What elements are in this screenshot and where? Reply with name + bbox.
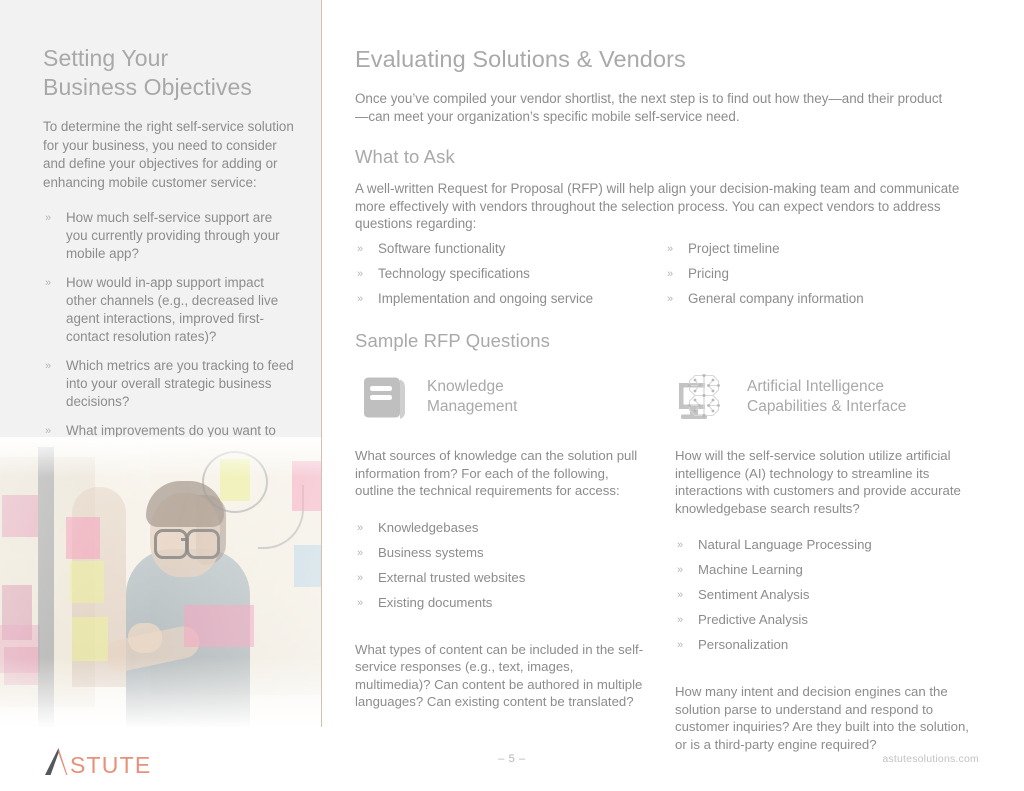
bullet-glyph-icon: » [357,569,363,587]
spacer [355,619,651,641]
sidebar-objectives-list: » How much self-service support are you … [43,209,295,476]
bullet-glyph-icon: » [677,636,683,654]
list-item-label: Predictive Analysis [698,612,808,627]
list-item: » How much self-service support are you … [43,209,295,263]
sidebar-photo [0,437,321,727]
sidebar-content: Setting Your Business Objectives To dete… [43,44,295,487]
sample-rfp-section: Sample RFP Questions [355,329,975,353]
list-item: » Technology specifications [355,265,665,283]
card-header: Knowledge Management [355,366,651,428]
sidebar-intro-paragraph: To determine the right self-service solu… [43,118,295,192]
list-item-label: Natural Language Processing [698,537,872,552]
what-to-ask-right-column: » Project timeline » Pricing » General c… [665,240,975,315]
ai-monitor-brain-icon [675,368,733,426]
bullet-glyph-icon: » [677,536,683,554]
card-paragraph-2: What types of content can be included in… [355,641,651,711]
list-item-label: Which metrics are you tracking to feed i… [66,358,294,409]
list-item: » Machine Learning [675,561,971,579]
bullet-glyph-icon: » [667,265,673,283]
card-artificial-intelligence: Artificial Intelligence Capabilities & I… [675,366,971,753]
card-title: Artificial Intelligence Capabilities & I… [733,377,906,417]
bullet-glyph-icon: » [357,265,363,283]
bullet-glyph-icon: » [667,290,673,308]
list-item-label: Personalization [698,637,788,652]
card-body: How will the self-service solution utili… [675,447,971,753]
list-item-label: Sentiment Analysis [698,587,809,602]
section-heading-sample-rfp: Sample RFP Questions [355,329,975,353]
page-title: Evaluating Solutions & Vendors [355,44,975,74]
bullet-glyph-icon: » [45,209,51,227]
list-item-label: Pricing [688,266,729,281]
bullet-glyph-icon: » [677,561,683,579]
list-item-label: Machine Learning [698,562,803,577]
book-icon [355,368,413,426]
card-paragraph-1: What sources of knowledge can the soluti… [355,447,651,500]
list-item-label: How much self-service support are you cu… [66,210,280,261]
sidebar-heading-line2: Business Objectives [43,74,252,100]
list-item-label: How would in-app support impact other ch… [66,275,278,344]
photo-fade-top [0,437,321,477]
list-item: » General company information [665,290,975,308]
page-number: – 5 – [0,753,1024,765]
list-item: » Predictive Analysis [675,611,971,629]
list-item: » How would in-app support impact other … [43,274,295,346]
what-to-ask-list-left: » Software functionality » Technology sp… [355,240,665,308]
bullet-glyph-icon: » [357,240,363,258]
list-item: » Pricing [665,265,975,283]
list-item-label: Business systems [378,545,484,560]
list-item: » Project timeline [665,240,975,258]
what-to-ask-paragraph: A well-written Request for Proposal (RFP… [355,180,975,233]
card-body: What sources of knowledge can the soluti… [355,447,651,711]
what-to-ask-left-column: » Software functionality » Technology sp… [355,240,665,315]
list-item: » Personalization [675,636,971,654]
list-item-label: External trusted websites [378,570,525,585]
list-item-label: Project timeline [688,241,780,256]
list-item-label: Existing documents [378,595,492,610]
list-item: » Which metrics are you tracking to feed… [43,357,295,411]
bullet-glyph-icon: » [677,611,683,629]
card-title-line2: Capabilities & Interface [747,398,906,415]
list-item: » Sentiment Analysis [675,586,971,604]
list-item-label: Technology specifications [378,266,530,281]
photo-fade-bottom [0,657,321,727]
website-url: astutesolutions.com [882,753,979,765]
bullet-glyph-icon: » [357,594,363,612]
main-content: Evaluating Solutions & Vendors Once you’… [355,44,975,125]
bullet-glyph-icon: » [357,519,363,537]
list-item-label: Implementation and ongoing service [378,291,593,306]
sidebar-heading: Setting Your Business Objectives [43,44,295,102]
bullet-glyph-icon: » [357,290,363,308]
bullet-glyph-icon: » [667,240,673,258]
card-bullet-list: » Knowledgebases » Business systems » Ex… [355,519,651,612]
sample-rfp-columns: Knowledge Management What sources of kno… [355,366,975,753]
intro-paragraph: Once you’ve compiled your vendor shortli… [355,90,955,125]
page-footer: STUTE – 5 – astutesolutions.com [0,736,1024,791]
card-title-line2: Management [427,398,517,415]
sidebar-heading-line1: Setting Your [43,45,168,71]
list-item-label: Software functionality [378,241,505,256]
document-page: Setting Your Business Objectives To dete… [0,0,1024,791]
card-title: Knowledge Management [413,377,517,417]
what-to-ask-section: What to Ask A well-written Request for P… [355,145,975,233]
what-to-ask-list-right: » Project timeline » Pricing » General c… [665,240,975,308]
bullet-glyph-icon: » [45,357,51,375]
bullet-glyph-icon: » [45,274,51,292]
card-title-line1: Artificial Intelligence [747,378,884,395]
card-bullet-list: » Natural Language Processing » Machine … [675,536,971,654]
list-item: » Implementation and ongoing service [355,290,665,308]
card-knowledge-management: Knowledge Management What sources of kno… [355,366,651,753]
list-item: » Existing documents [355,594,651,612]
section-heading-what-to-ask: What to Ask [355,145,975,169]
card-paragraph-1: How will the self-service solution utili… [675,447,971,517]
list-item: » Natural Language Processing [675,536,971,554]
list-item: » Software functionality [355,240,665,258]
list-item-label: Knowledgebases [378,520,478,535]
list-item-label: General company information [688,291,864,306]
list-item: » Knowledgebases [355,519,651,537]
vertical-divider [321,0,322,727]
bullet-glyph-icon: » [357,544,363,562]
card-title-line1: Knowledge [427,378,504,395]
spacer [675,661,971,683]
card-header: Artificial Intelligence Capabilities & I… [675,366,971,428]
list-item: » Business systems [355,544,651,562]
list-item: » External trusted websites [355,569,651,587]
bullet-glyph-icon: » [677,586,683,604]
what-to-ask-bullet-columns: » Software functionality » Technology sp… [355,240,975,315]
